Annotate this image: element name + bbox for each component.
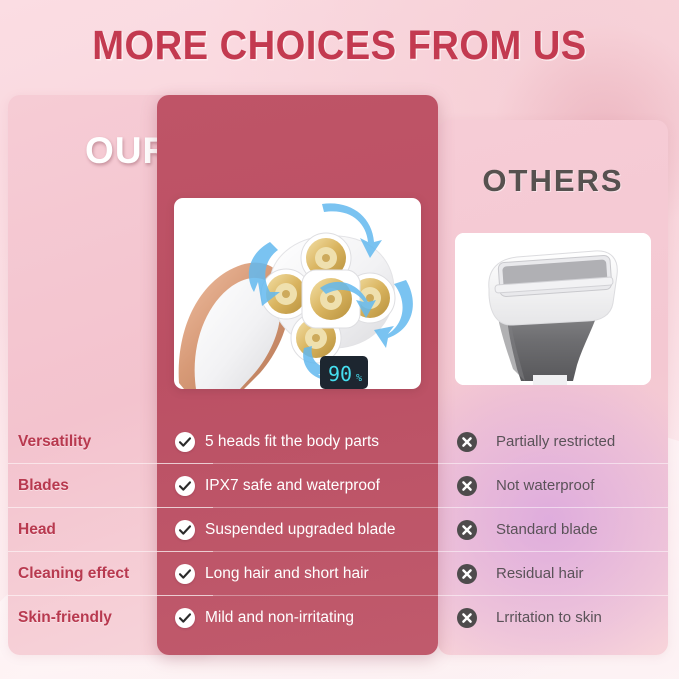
others-feature-row: Partially restricted [438, 420, 668, 464]
svg-text:90: 90 [328, 362, 352, 386]
others-feature-text: Not waterproof [496, 477, 594, 494]
others-feature-text: Partially restricted [496, 433, 615, 450]
others-feature-text: Lrritation to skin [496, 609, 602, 626]
feature-label-text: Blades [18, 477, 69, 495]
ours-product-image: 90 % [174, 198, 421, 389]
cross-icon [457, 476, 477, 496]
ours-feature-text: IPX7 safe and waterproof [205, 477, 380, 495]
infographic-canvas: MORE CHOICES FROM US OURS OTHERS [0, 0, 679, 679]
feature-label-text: Head [18, 521, 56, 539]
others-feature-row: Residual hair [438, 552, 668, 596]
others-feature-text: Standard blade [496, 521, 598, 538]
svg-text:%: % [356, 373, 362, 384]
check-icon [175, 608, 195, 628]
others-feature-list: Partially restricted Not waterproof Stan… [438, 420, 668, 639]
check-icon [175, 564, 195, 584]
ours-feature-row: IPX7 safe and waterproof [157, 464, 438, 508]
feature-label-text: Cleaning effect [18, 565, 129, 583]
feature-label-text: Versatility [18, 433, 91, 451]
ours-feature-list: 5 heads fit the body parts IPX7 safe and… [157, 420, 438, 639]
cross-icon [457, 564, 477, 584]
others-heading: OTHERS [438, 163, 668, 199]
ours-feature-row: Suspended upgraded blade [157, 508, 438, 552]
ours-feature-row: Mild and non-irritating [157, 596, 438, 639]
ours-feature-text: Mild and non-irritating [205, 609, 354, 627]
ours-feature-text: Long hair and short hair [205, 565, 369, 583]
cross-icon [457, 608, 477, 628]
cross-icon [457, 432, 477, 452]
check-icon [175, 520, 195, 540]
ours-feature-text: 5 heads fit the body parts [205, 433, 379, 451]
others-feature-row: Standard blade [438, 508, 668, 552]
others-feature-row: Lrritation to skin [438, 596, 668, 639]
check-icon [175, 476, 195, 496]
ours-feature-text: Suspended upgraded blade [205, 521, 395, 539]
check-icon [175, 432, 195, 452]
feature-label-text: Skin-friendly [18, 609, 112, 627]
cross-icon [457, 520, 477, 540]
ours-feature-row: 5 heads fit the body parts [157, 420, 438, 464]
page-title: MORE CHOICES FROM US [24, 22, 655, 69]
others-feature-text: Residual hair [496, 565, 584, 582]
others-feature-row: Not waterproof [438, 464, 668, 508]
others-product-image [455, 233, 651, 385]
ours-feature-row: Long hair and short hair [157, 552, 438, 596]
